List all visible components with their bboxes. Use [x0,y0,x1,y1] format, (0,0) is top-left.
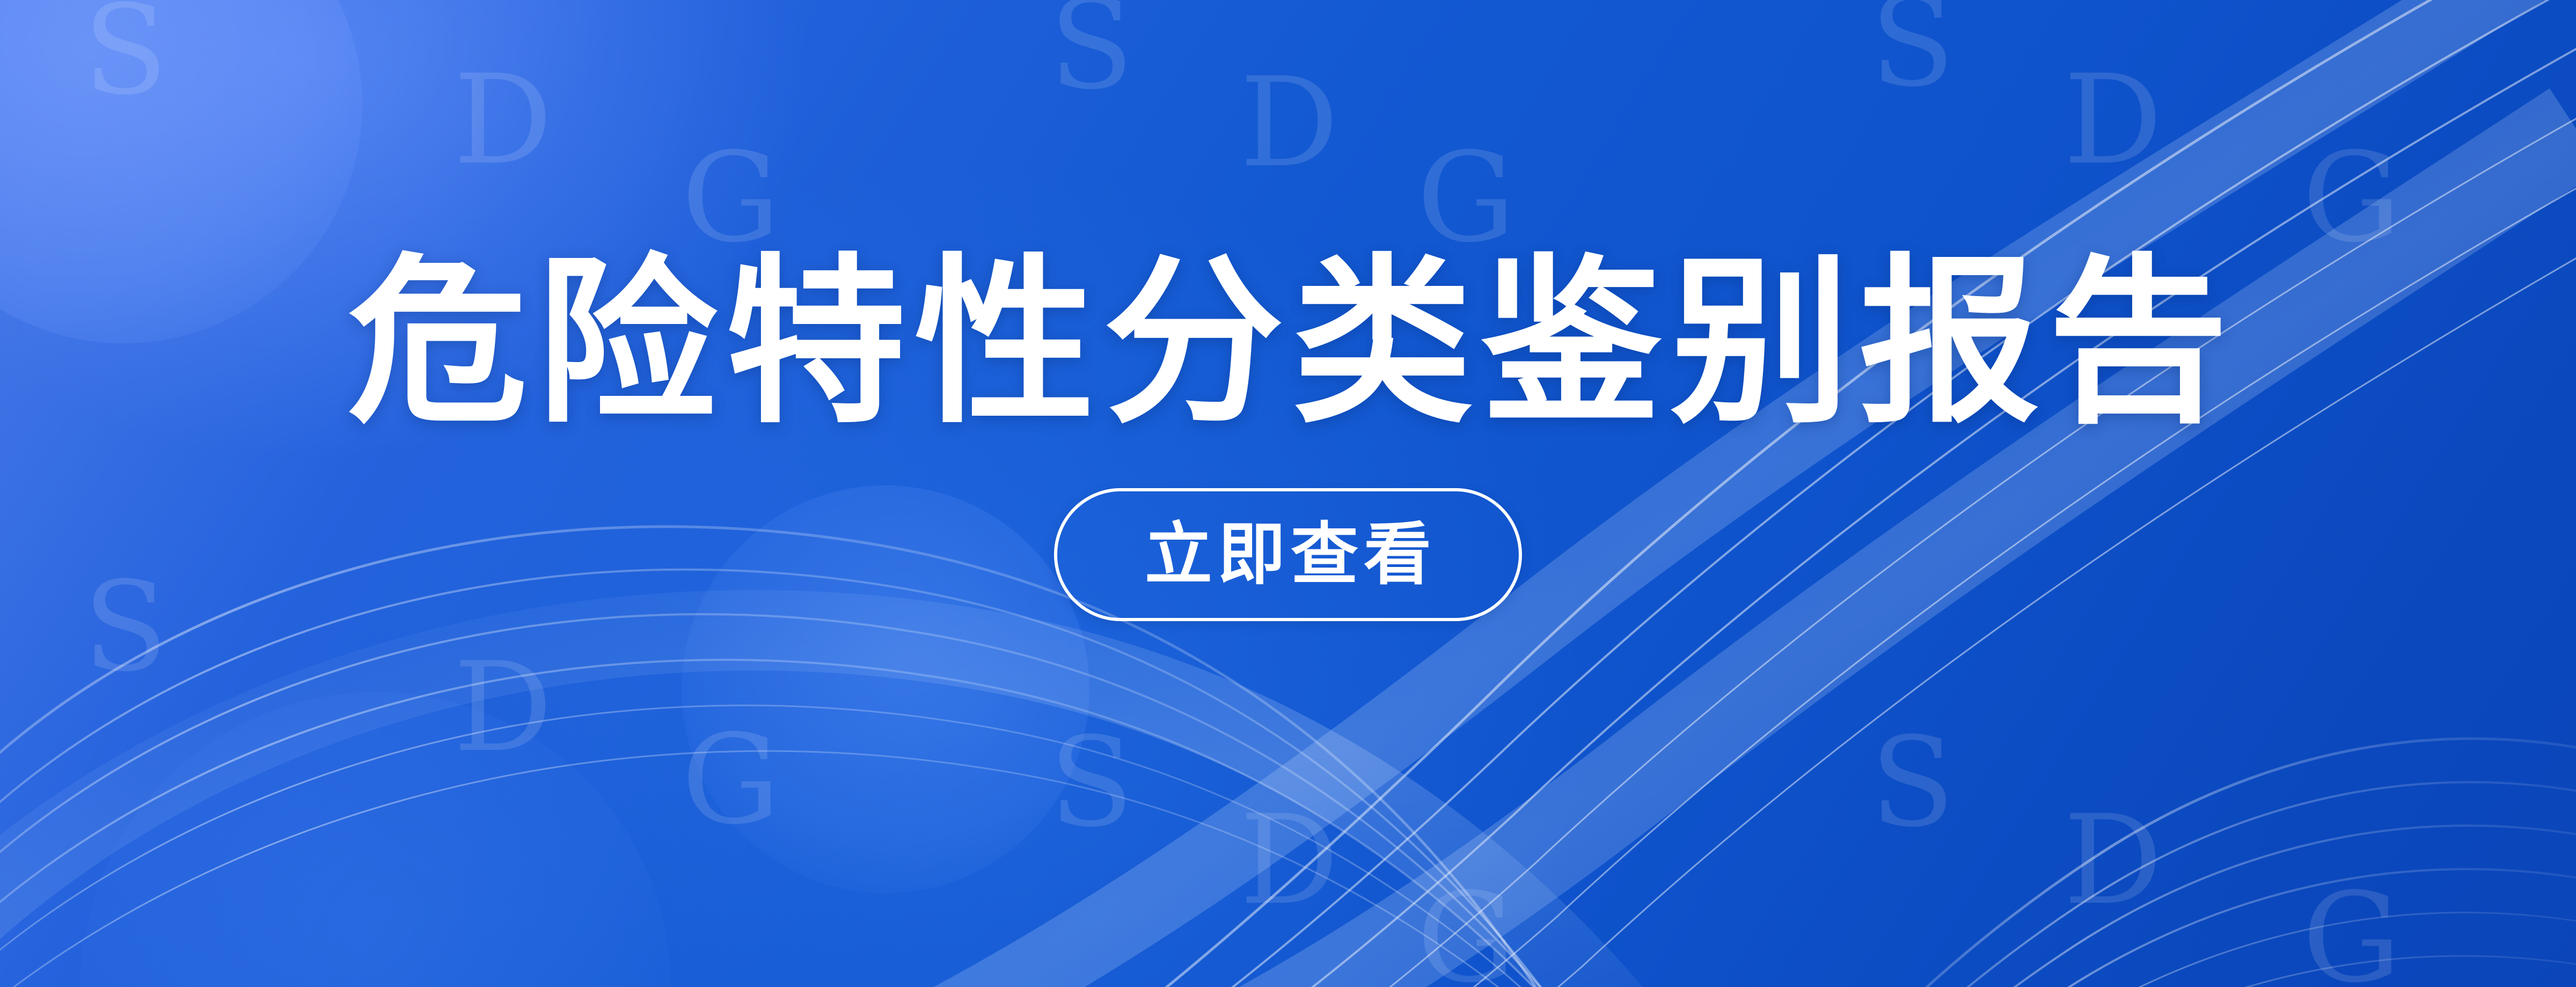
promo-banner: SDGSDGSDGSDGSDGSDG [0,0,2576,987]
banner-content: 危险特性分类鉴别报告 立即查看 [0,0,2576,987]
view-now-button[interactable]: 立即查看 [1054,488,1522,621]
view-now-button-label: 立即查看 [1139,521,1437,588]
page-title: 危险特性分类鉴别报告 [339,253,2237,433]
